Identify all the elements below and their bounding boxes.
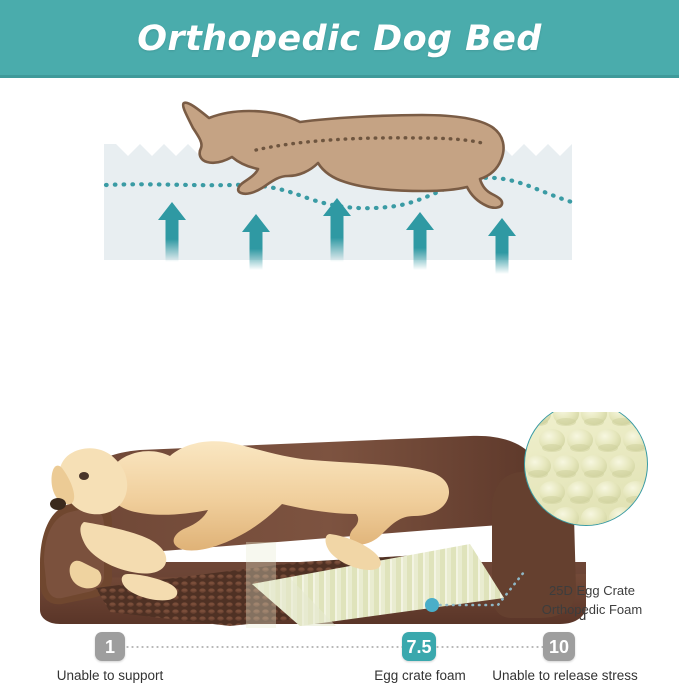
hardness-scale: Too soft Medium hardness Too hard 1 7.5 …	[0, 300, 679, 410]
dog-nose	[50, 498, 66, 510]
scale-badge-soft[interactable]: 1	[95, 632, 125, 661]
scale-badge-hard[interactable]: 10	[543, 632, 575, 661]
header-banner: Orthopedic Dog Bed	[0, 0, 679, 78]
scale-bottom-label-soft: Unable to support	[35, 668, 185, 685]
foam-marker-dot	[425, 598, 439, 612]
product-infographic: Orthopedic Dog Bed	[0, 0, 679, 630]
scale-bottom-label-hard: Unable to release stress	[490, 668, 640, 685]
foam-caption-line-1: 25D Egg Crate	[512, 582, 672, 601]
scale-bottom-label-medium: Egg crate foam	[350, 668, 490, 685]
dog-eye	[79, 472, 89, 480]
page-title: Orthopedic Dog Bed	[0, 0, 679, 78]
scale-track	[120, 646, 556, 648]
foam-support-diagram	[0, 78, 679, 288]
foam-caption-line-2: Orthopedic Foam	[512, 601, 672, 620]
scale-badge-medium[interactable]: 7.5	[402, 632, 436, 661]
foam-inset-caption: 25D Egg Crate Orthopedic Foam	[512, 582, 672, 620]
